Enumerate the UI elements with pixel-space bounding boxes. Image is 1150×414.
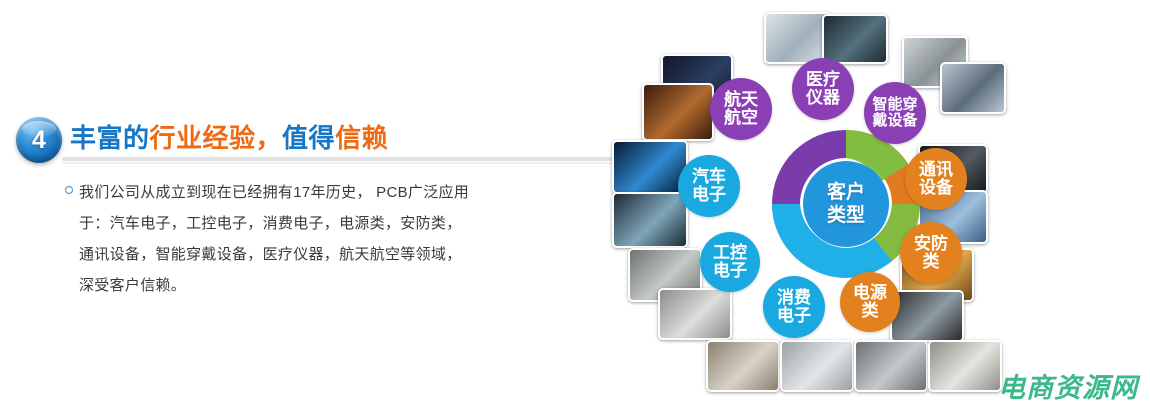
- category-bubble-automotive[interactable]: 汽车电子: [678, 155, 740, 217]
- category-bubble-aerospace-line-0: 航天: [724, 91, 758, 109]
- body-line-0: 我们公司从成立到现在已经拥有17年历史， PCB广泛应用: [79, 177, 579, 208]
- photo-image-mri-scanner: [766, 14, 830, 62]
- category-bubble-automotive-line-0: 汽车: [692, 168, 726, 186]
- body-line-3: 深受客户信赖。: [79, 270, 579, 301]
- photo-camera-parts: [706, 340, 780, 392]
- category-bubble-telecom-line-0: 通讯: [919, 161, 953, 179]
- category-bubble-power-line-0: 电源: [853, 284, 887, 302]
- category-bubble-security-line-0: 安防: [914, 235, 948, 253]
- category-bubble-aerospace-line-1: 航空: [724, 109, 758, 127]
- category-bubble-aerospace[interactable]: 航天航空: [710, 78, 772, 140]
- category-bubble-industrial-line-0: 工控: [713, 244, 747, 262]
- bullet-marker-icon: [65, 186, 73, 194]
- category-bubble-consumer-line-0: 消费: [777, 289, 811, 307]
- page-title-part-4: 信赖: [335, 123, 388, 153]
- page-title-part-3: 值得: [282, 123, 335, 153]
- photo-cctv-monitors: [890, 290, 964, 342]
- left-content-panel: 4 丰富的行业经验，值得信赖 我们公司从成立到现在已经拥有17年历史， PCB广…: [0, 0, 620, 414]
- category-bubble-industrial[interactable]: 工控电子: [700, 232, 760, 292]
- photo-image-sports-car: [614, 194, 686, 246]
- photo-image-cables-adapters: [782, 342, 852, 390]
- category-bubble-medical[interactable]: 医疗仪器: [792, 58, 854, 120]
- title-divider: [62, 157, 618, 164]
- photo-pc-psu: [928, 340, 1002, 392]
- category-bubble-wearable[interactable]: 智能穿戴设备: [864, 82, 926, 144]
- body-line-1: 于：汽车电子，工控电子，消费电子，电源类，安防类，: [79, 208, 579, 239]
- page-title-part-0: 丰富的: [70, 123, 150, 153]
- category-bubble-consumer[interactable]: 消费电子: [763, 276, 825, 338]
- body-paragraph: 我们公司从成立到现在已经拥有17年历史， PCB广泛应用于：汽车电子，工控电子，…: [79, 177, 579, 301]
- category-bubble-automotive-line-1: 电子: [692, 186, 726, 204]
- body-line-2: 通讯设备，智能穿戴设备，医疗仪器，航天航空等领域，: [79, 239, 579, 270]
- step-number-label: 4: [32, 128, 46, 153]
- photo-smart-wristband: [940, 62, 1006, 114]
- category-bubble-medical-line-0: 医疗: [806, 71, 840, 89]
- category-bubble-telecom-line-1: 设备: [919, 179, 953, 197]
- category-bubble-industrial-line-1: 电子: [713, 262, 747, 280]
- photo-image-power-supply: [856, 342, 926, 390]
- photo-sports-car: [612, 192, 688, 248]
- photo-image-camera-parts: [708, 342, 778, 390]
- category-bubble-consumer-line-1: 电子: [777, 307, 811, 325]
- photo-blue-car: [612, 140, 688, 194]
- photo-image-smt-line: [660, 290, 730, 338]
- category-bubble-medical-line-1: 仪器: [806, 89, 840, 107]
- category-bubble-wearable-line-0: 智能穿: [872, 97, 917, 113]
- step-number-badge: 4: [16, 117, 62, 163]
- photo-image-cctv-monitors: [892, 292, 962, 340]
- photo-image-smart-wristband: [942, 64, 1004, 112]
- category-bubble-security-line-1: 类: [923, 253, 940, 271]
- page-title-part-1: 行业经验: [150, 123, 256, 153]
- photo-power-supply: [854, 340, 928, 392]
- site-watermark: 电商资源网: [998, 375, 1138, 402]
- divider-bottom-line: [62, 162, 618, 164]
- category-bubble-telecom[interactable]: 通讯设备: [905, 148, 967, 210]
- page-title: 丰富的行业经验，值得信赖: [70, 121, 388, 155]
- photo-smt-line: [658, 288, 732, 340]
- photo-image-pc-psu: [930, 342, 1000, 390]
- category-bubble-power-line-1: 类: [862, 302, 879, 320]
- category-bubble-wearable-line-1: 戴设备: [872, 113, 917, 129]
- photo-image-operating-room: [824, 16, 886, 62]
- photo-cables-adapters: [780, 340, 854, 392]
- photo-image-satellite: [644, 85, 712, 139]
- category-bubble-security[interactable]: 安防类: [900, 222, 962, 284]
- customer-type-diagram: 客户类型 航天航空医疗仪器智能穿戴设备汽车电子工控电子消费电子电源类安防类通讯设…: [600, 0, 1150, 414]
- divider-top-line: [62, 157, 618, 161]
- page-title-part-2: ，: [256, 123, 283, 153]
- photo-satellite: [642, 83, 714, 141]
- photo-image-blue-car: [614, 142, 686, 192]
- category-bubble-power[interactable]: 电源类: [840, 272, 900, 332]
- photo-operating-room: [822, 14, 888, 64]
